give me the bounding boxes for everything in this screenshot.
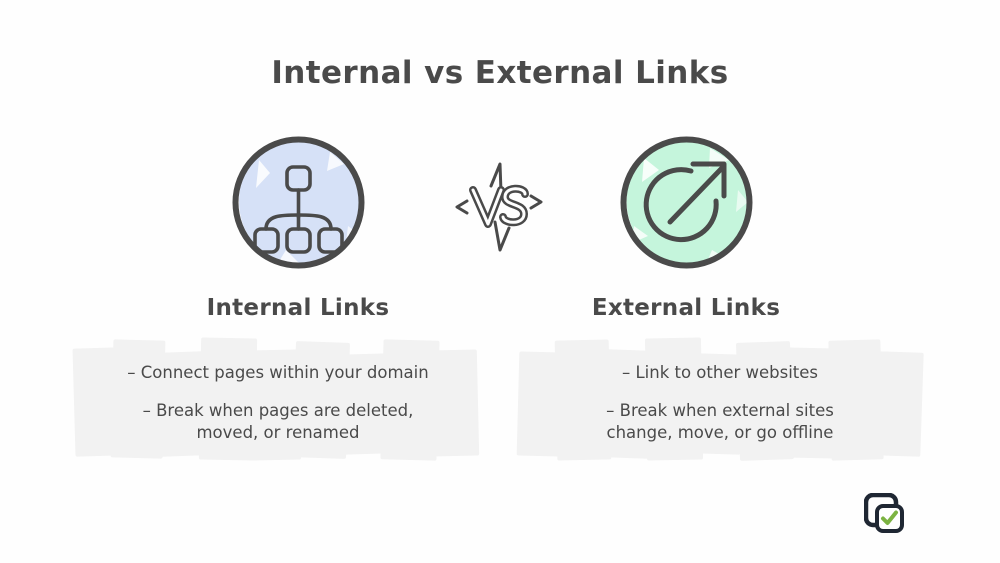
external-links-label: External Links (536, 295, 836, 321)
internal-links-icon-circle (226, 130, 371, 275)
external-bullet-1: – Link to other websites (622, 362, 818, 384)
internal-bullet-1: – Connect pages within your domain (127, 362, 428, 384)
outbound-arrow-icon (614, 130, 759, 275)
external-bullet-2: – Break when external sites change, move… (606, 400, 834, 445)
checkbox-stack-logo (864, 493, 904, 533)
internal-links-notes-panel: – Connect pages within your domain – Bre… (78, 338, 478, 468)
column-internal-links: Internal Links (148, 130, 448, 321)
external-links-icon-circle (614, 130, 759, 275)
brand-logo[interactable] (864, 493, 904, 533)
column-external-links: External Links (536, 130, 836, 321)
page-title: Internal vs External Links (0, 55, 1000, 91)
sitemap-hierarchy-icon (226, 130, 371, 275)
internal-bullet-2: – Break when pages are deleted, moved, o… (143, 400, 414, 445)
external-links-notes-panel: – Link to other websites – Break when ex… (520, 338, 920, 468)
internal-links-label: Internal Links (148, 295, 448, 321)
